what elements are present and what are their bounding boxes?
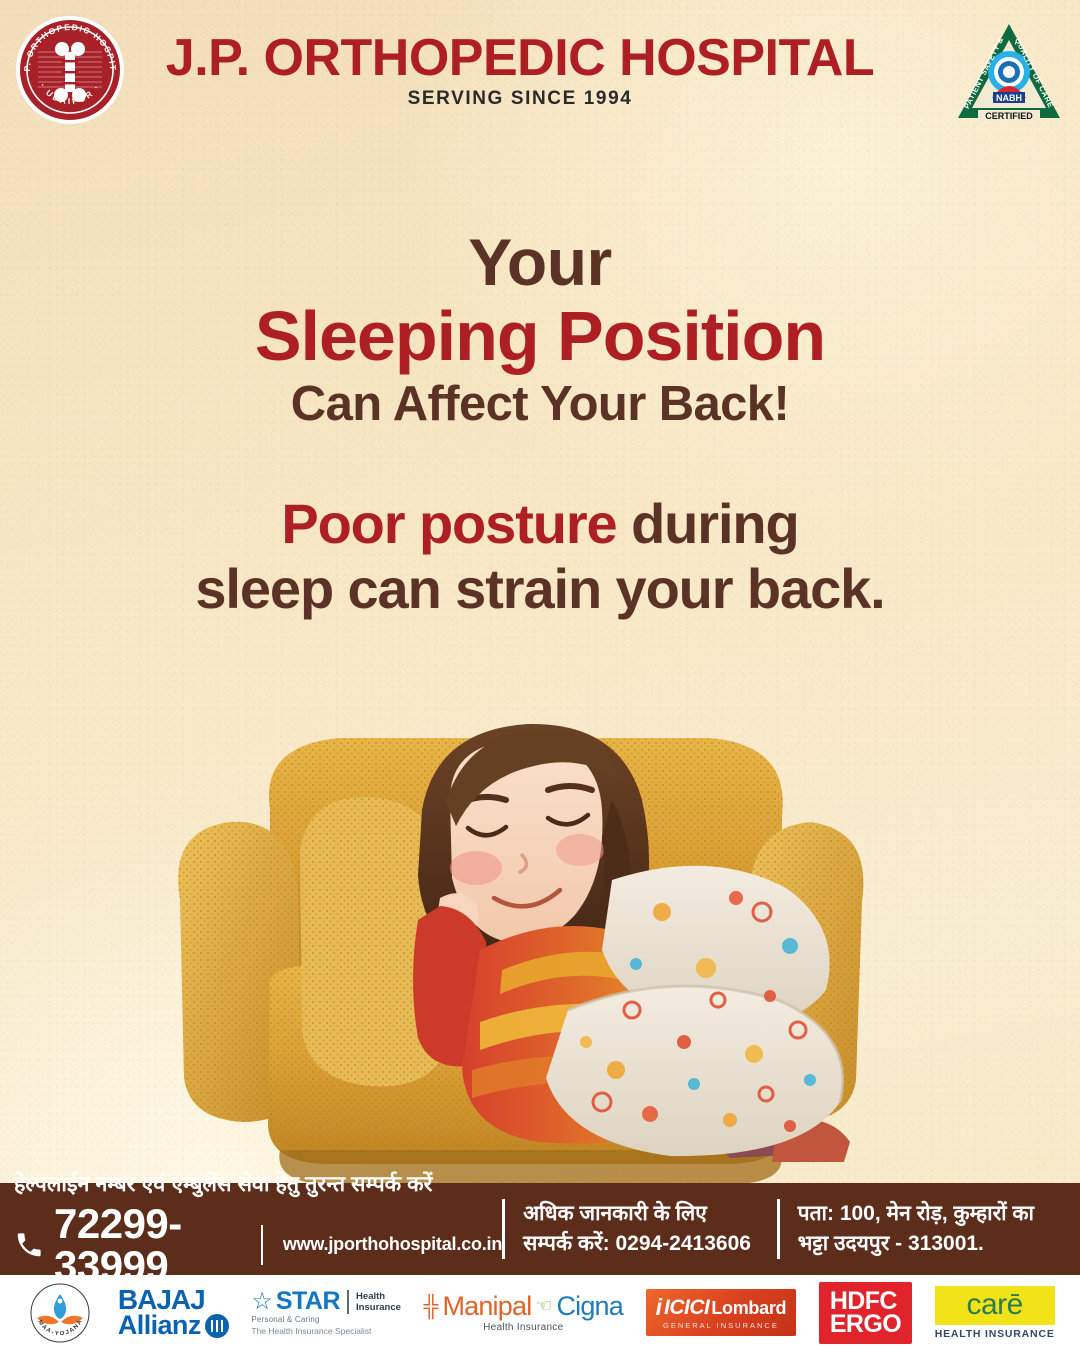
star-icon: ☆	[251, 1290, 273, 1314]
subheading-line-1-rest: during	[617, 492, 799, 555]
icici-i-icon: i	[656, 1296, 662, 1319]
partner-logo-manipal-cigna: ╬ Manipal ☜ Cigna Health Insurance	[424, 1282, 623, 1344]
manipal-subtitle: Health Insurance	[424, 1323, 623, 1333]
info-line-1: अधिक जानकारी के लिए	[523, 1199, 777, 1229]
partner-logo-star-health: ☆ STAR Health Insurance Personal & Carin…	[251, 1282, 401, 1344]
hospital-name: J.P. ORTHOPEDIC HOSPITAL	[150, 28, 890, 88]
info-line-2[interactable]: सम्पर्क करें: 0294-2413606	[523, 1229, 777, 1259]
icici-subtitle: GENERAL INSURANCE	[656, 1322, 787, 1330]
helpline-section: हेल्पलाईन नम्बर एवं एम्बुलेंस सेवा हेतु …	[0, 1183, 502, 1275]
subheading-emphasis: Poor posture	[281, 492, 616, 555]
address-line-2: भट्टा उदयपुर - 313001.	[798, 1229, 1080, 1259]
care-box: carē	[935, 1286, 1055, 1325]
hospital-seal-logo: J. P. ORTHOPEDIC HOSPITAL · UDAIPUR ·	[16, 16, 124, 124]
star-divider	[347, 1290, 349, 1314]
sleeping-woman-illustration	[150, 650, 890, 1195]
care-subtitle: HEALTH INSURANCE	[935, 1329, 1055, 1340]
website-url[interactable]: www.jporthohospital.co.in	[283, 1234, 502, 1255]
star-side-2: Insurance	[356, 1302, 401, 1313]
partner-logo-icici-lombard: i ICICI Lombard GENERAL INSURANCE	[646, 1282, 797, 1344]
hospital-tagline: SERVING SINCE 1994	[150, 88, 890, 110]
manipal-wordmark: Manipal	[442, 1293, 531, 1320]
phone-icon	[14, 1230, 44, 1260]
headline-block: Your Sleeping Position Can Affect Your B…	[0, 228, 1080, 435]
insurance-partners-strip: M A A - Y O J A N A BAJAJ Allianz ☆ STAR…	[0, 1275, 1080, 1350]
bajaj-line-2: Allianz	[118, 1313, 201, 1338]
lombard-wordmark: Lombard	[711, 1299, 786, 1317]
partner-logo-hdfc-ergo: HDFC ERGO	[819, 1282, 912, 1344]
subheading-block: Poor posture during sleep can strain you…	[0, 492, 1080, 622]
headline-line-2: Sleeping Position	[0, 297, 1080, 375]
cigna-tree-icon: ☜	[535, 1297, 552, 1316]
icici-wordmark: ICICI	[664, 1297, 709, 1318]
contact-footer-bar: हेल्पलाईन नम्बर एवं एम्बुलेंस सेवा हेतु …	[0, 1183, 1080, 1275]
care-wordmark: carē	[966, 1288, 1022, 1321]
headline-line-1: Your	[0, 228, 1080, 297]
partner-logo-care-health: carē HEALTH INSURANCE	[935, 1282, 1055, 1344]
partner-logo-maa-yojana: M A A - Y O J A N A	[25, 1282, 95, 1344]
allianz-mark-icon	[205, 1314, 229, 1338]
star-tagline: The Health Insurance Specialist	[251, 1327, 401, 1336]
svg-text:CERTIFIED: CERTIFIED	[985, 111, 1033, 121]
subheading-line-1: Poor posture during	[0, 492, 1080, 557]
star-side-1: Health	[356, 1291, 401, 1302]
address-section: पता: 100, मेन रोड़, कुम्हारों का भट्टा उ…	[780, 1183, 1080, 1275]
cigna-wordmark: Cigna	[556, 1293, 623, 1320]
partner-logo-bajaj-allianz: BAJAJ Allianz	[118, 1282, 229, 1344]
helpline-label: हेल्पलाईन नम्बर एवं एम्बुलेंस सेवा हेतु …	[14, 1171, 502, 1199]
star-wordmark: STAR	[276, 1289, 340, 1314]
manipal-mark-icon: ╬	[424, 1296, 439, 1317]
address-line-1: पता: 100, मेन रोड़, कुम्हारों का	[798, 1199, 1080, 1229]
svg-text:NABH: NABH	[996, 93, 1022, 103]
header: J. P. ORTHOPEDIC HOSPITAL · UDAIPUR · J.…	[0, 0, 1080, 140]
headline-line-3: Can Affect Your Back!	[0, 375, 1080, 435]
star-subtitle: Personal & Caring	[251, 1316, 401, 1324]
info-section: अधिक जानकारी के लिए सम्पर्क करें: 0294-2…	[505, 1183, 777, 1275]
phone-website-divider	[261, 1225, 263, 1265]
maa-yojana-icon: M A A - Y O J A N A	[25, 1282, 95, 1344]
subheading-line-2: sleep can strain your back.	[0, 557, 1080, 622]
nabh-certification-badge: NABH CERTIFIED PATIENT SAFETY & QUALITY …	[954, 18, 1064, 126]
hdfc-line-2: ERGO	[830, 1313, 901, 1336]
